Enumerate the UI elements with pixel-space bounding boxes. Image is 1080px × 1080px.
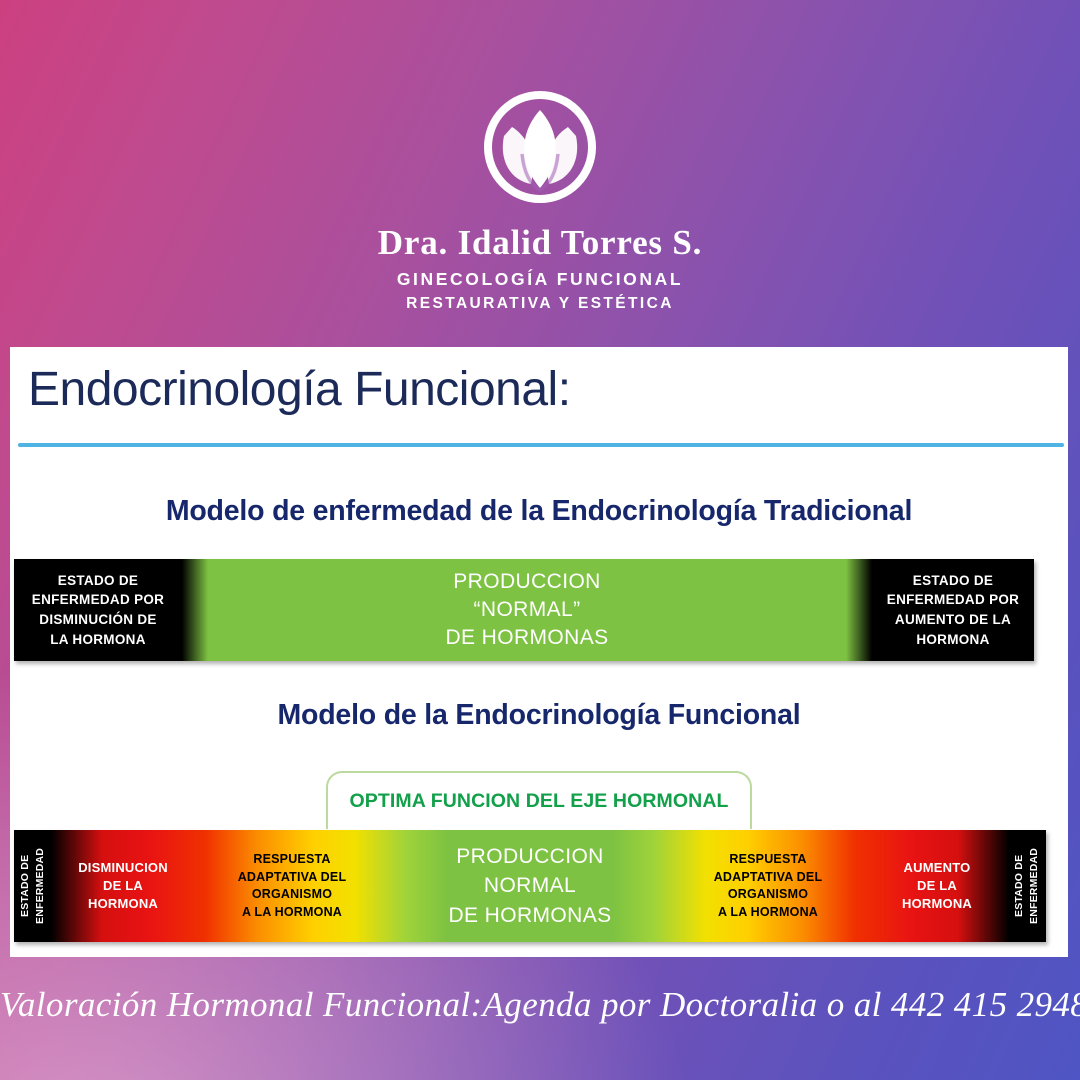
traditional-disease-low-label: ESTADO DEENFERMEDAD PORDISMINUCIÓN DELA … [32,571,164,649]
functional-model-bar: ESTADO DEENFERMEDAD DISMINUCIONDE LAHORM… [14,830,1046,942]
optima-function-banner: OPTIMA FUNCION DEL EJE HORMONAL [326,771,752,829]
footer-caption-area: Valoración Hormonal Funcional:Agenda por… [0,985,1080,1025]
brand-name: Dra. Idalid Torres S. [378,223,702,263]
traditional-disease-high-segment: ESTADO DEENFERMEDAD PORAUMENTO DE LAHORM… [872,559,1034,661]
functional-decrease-label: DISMINUCIONDE LAHORMONA [52,830,194,942]
footer-caption: Valoración Hormonal Funcional:Agenda por… [0,985,1080,1025]
traditional-normal-segment: PRODUCCION“NORMAL”DE HORMONAS [182,559,872,661]
brand-header: Dra. Idalid Torres S. GINECOLOGÍA FUNCIO… [0,0,1080,347]
optima-function-label: OPTIMA FUNCION DEL EJE HORMONAL [349,790,728,813]
traditional-model-bar: ESTADO DEENFERMEDAD PORDISMINUCIÓN DELA … [14,559,1034,661]
brand-specialty-line1: GINECOLOGÍA FUNCIONAL [397,269,683,290]
functional-normal-label: PRODUCCIONNORMALDE HORMONAS [390,830,670,942]
page-title: Endocrinología Funcional: [28,362,571,417]
functional-disease-high-label: ESTADO DEENFERMEDAD [1008,830,1046,942]
functional-increase-label: AUMENTODE LAHORMONA [866,830,1008,942]
lotus-flower-icon [474,88,606,206]
title-divider [18,443,1064,447]
functional-disease-low-label: ESTADO DEENFERMEDAD [14,830,52,942]
content-card: Endocrinología Funcional: Modelo de enfe… [10,347,1068,957]
functional-model-heading: Modelo de la Endocrinología Funcional [10,699,1068,732]
functional-adaptive-high-label: RESPUESTAADAPTATIVA DELORGANISMOA LA HOR… [670,830,866,942]
brand-specialty-line2: RESTAURATIVA Y ESTÉTICA [406,295,674,313]
traditional-disease-high-label: ESTADO DEENFERMEDAD PORAUMENTO DE LAHORM… [887,571,1019,649]
traditional-model-heading: Modelo de enfermedad de la Endocrinologí… [10,495,1068,528]
traditional-normal-label: PRODUCCION“NORMAL”DE HORMONAS [445,568,608,651]
traditional-disease-low-segment: ESTADO DEENFERMEDAD PORDISMINUCIÓN DELA … [14,559,182,661]
poster-canvas: Dra. Idalid Torres S. GINECOLOGÍA FUNCIO… [0,0,1080,1080]
functional-adaptive-low-label: RESPUESTAADAPTATIVA DELORGANISMOA LA HOR… [194,830,390,942]
